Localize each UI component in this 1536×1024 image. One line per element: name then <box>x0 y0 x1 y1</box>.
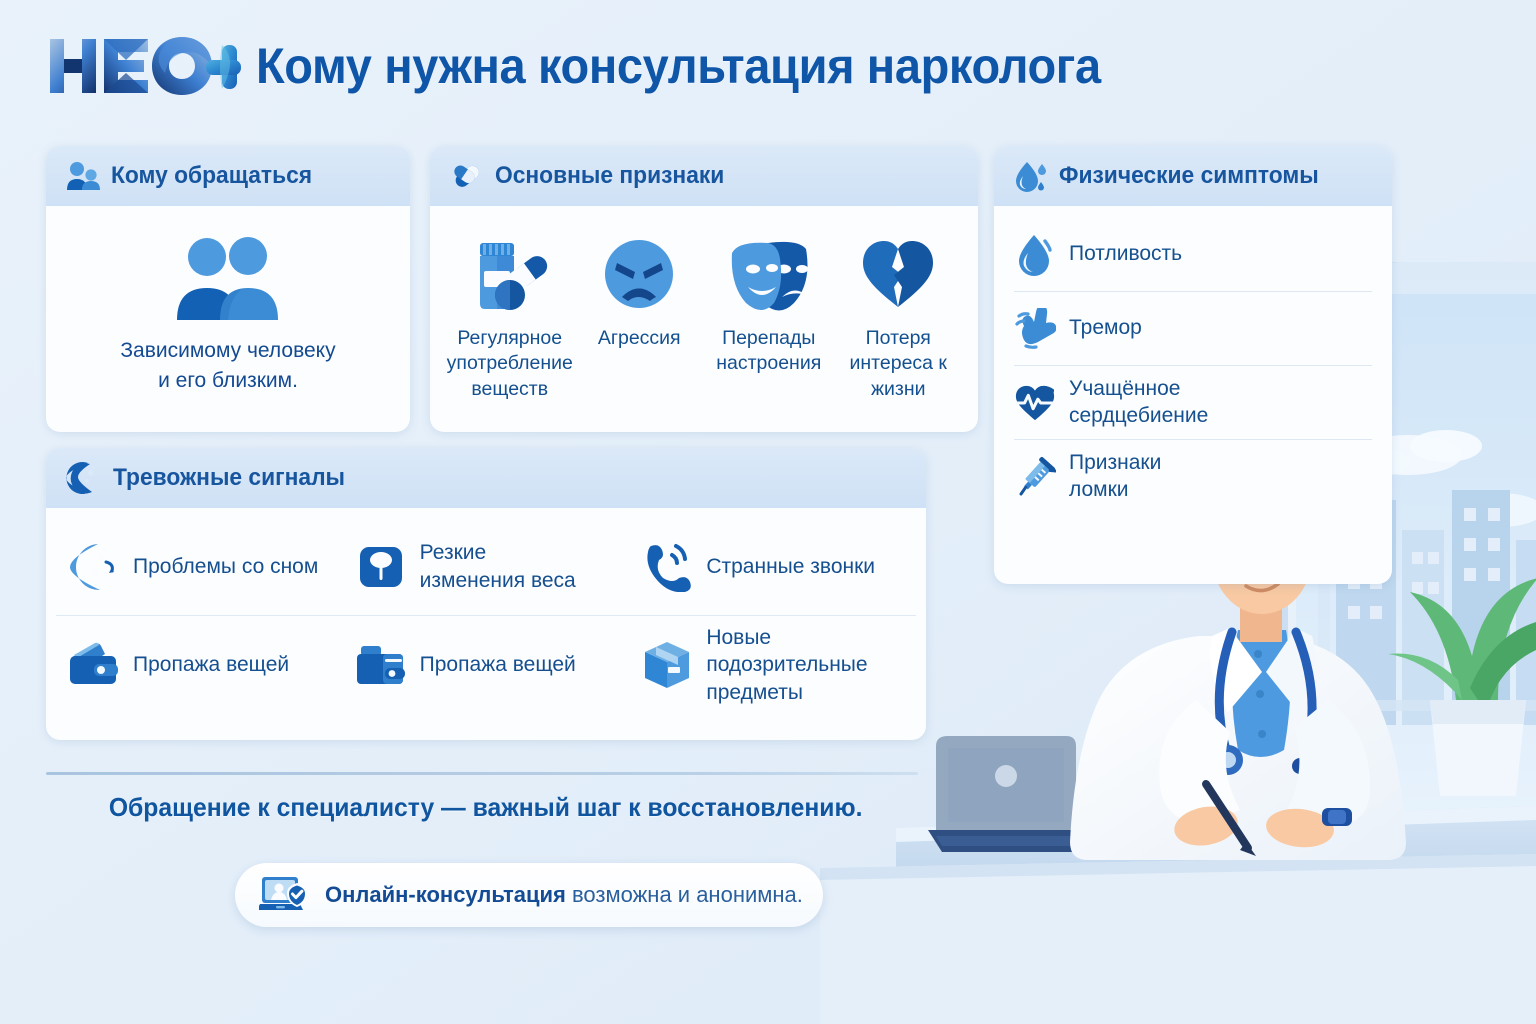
droplet-icon <box>1014 232 1056 278</box>
two-persons-icon <box>66 161 100 191</box>
card-alarm-signals: Тревожные сигналы Проблемы со сном <box>46 448 926 740</box>
package-box-icon <box>641 638 693 692</box>
card-physical-header: Физические симптомы <box>994 146 1392 206</box>
alarm-label: Странные звонки <box>706 553 875 580</box>
card-alarm-title: Тревожные сигналы <box>113 464 345 492</box>
footer-divider <box>46 772 918 775</box>
angry-face-icon <box>600 228 678 320</box>
closed-wallet-icon <box>355 638 407 692</box>
alarm-label-line-1: Резкие <box>420 539 576 566</box>
alarm-grid: Проблемы со сном Резкие изменения веса <box>56 518 916 714</box>
online-consultation-text: Онлайн-консультация возможна и анонимна. <box>325 882 803 908</box>
alarm-label: Проблемы со сном <box>133 553 318 580</box>
theater-masks-icon <box>722 228 816 320</box>
crescent-moon-icon <box>66 461 102 495</box>
physical-row: Потливость <box>1014 218 1372 292</box>
alarm-item: Пропажа вещей <box>343 616 630 714</box>
sign-item: Регулярное употребление веществ <box>446 228 574 402</box>
card-physical-symptoms: Физические симптомы Потливость <box>994 146 1392 584</box>
online-consultation-rest: возможна и анонимна. <box>566 882 803 907</box>
physical-label: Учащённое сердцебиение <box>1069 376 1208 430</box>
card-who-title: Кому обращаться <box>111 162 312 190</box>
card-who-body: Зависимому человеку и его близким. <box>46 206 410 414</box>
alarm-label: Новые подозрительные предметы <box>706 624 867 706</box>
physical-label-line-2: ломки <box>1069 477 1161 504</box>
sign-label: Агрессия <box>598 326 681 351</box>
card-physical-body: Потливость Тремор <box>994 206 1392 522</box>
physical-label-line-1: Учащённое <box>1069 376 1208 403</box>
physical-list: Потливость Тремор <box>1008 214 1378 514</box>
card-physical-title: Физические симптомы <box>1059 162 1319 190</box>
card-who-to-contact: Кому обращаться Зависимому человеку и ег… <box>46 146 410 432</box>
footer-statement: Обращение к специалисту — важный шаг к в… <box>46 786 926 828</box>
physical-label: Признаки ломки <box>1069 450 1161 504</box>
physical-row: Признаки ломки <box>1014 440 1372 514</box>
who-figure <box>62 236 394 320</box>
physical-row: Учащённое сердцебиение <box>1014 366 1372 440</box>
card-alarm-body: Проблемы со сном Резкие изменения веса <box>46 508 926 724</box>
alarm-item: Проблемы со сном <box>56 518 343 616</box>
physical-label-line-2: сердцебиение <box>1069 403 1208 430</box>
sign-item: Перепады настроения <box>705 228 833 402</box>
alarm-label: Резкие изменения веса <box>420 539 576 594</box>
card-signs-title: Основные признаки <box>495 162 724 190</box>
shaking-hand-icon <box>1014 306 1056 352</box>
two-persons-large-icon <box>163 236 293 320</box>
signs-grid: Регулярное употребление веществ Агрессия <box>446 228 962 402</box>
sign-item: Агрессия <box>576 228 704 402</box>
alarm-label-line-1: Новые <box>706 624 867 651</box>
alarm-label-line-3: предметы <box>706 679 867 706</box>
card-alarm-header: Тревожные сигналы <box>46 448 926 508</box>
brand-logo-icon <box>44 33 242 99</box>
laptop-check-icon <box>259 873 311 917</box>
who-line-2: и его близким. <box>62 366 394 396</box>
open-wallet-icon <box>68 638 120 692</box>
card-main-signs: Основные признаки <box>430 146 978 432</box>
alarm-item: Странные звонки <box>629 518 916 616</box>
weight-scale-icon <box>355 540 407 594</box>
syringe-icon <box>1014 454 1056 500</box>
broken-heart-icon <box>857 228 939 320</box>
alarm-label-line-2: подозрительные <box>706 651 867 678</box>
alarm-item: Резкие изменения веса <box>343 518 630 616</box>
sign-label: Регулярное употребление веществ <box>446 326 574 402</box>
page-header: Кому нужна консультация нарколога <box>0 0 1536 132</box>
sign-item: Потеря интереса к жизни <box>835 228 963 402</box>
pills-icon <box>450 161 484 191</box>
phone-call-icon <box>641 540 693 594</box>
alarm-item: Новые подозрительные предметы <box>629 616 916 714</box>
physical-row: Тремор <box>1014 292 1372 366</box>
online-consultation-strong: Онлайн-консультация <box>325 882 566 907</box>
sign-label: Потеря интереса к жизни <box>835 326 963 402</box>
physical-label-line-1: Признаки <box>1069 450 1161 477</box>
physical-label: Тремор <box>1069 315 1142 342</box>
alarm-item: Пропажа вещей <box>56 616 343 714</box>
card-who-header: Кому обращаться <box>46 146 410 206</box>
sign-label: Перепады настроения <box>705 326 833 377</box>
physical-label: Потливость <box>1069 241 1182 268</box>
card-signs-body: Регулярное употребление веществ Агрессия <box>430 206 978 420</box>
moon-sleep-icon <box>68 540 120 594</box>
page-title: Кому нужна консультация нарколога <box>256 37 1101 95</box>
alarm-label-line-2: изменения веса <box>420 567 576 594</box>
alarm-label: Пропажа вещей <box>420 651 576 678</box>
who-description: Зависимому человеку и его близким. <box>62 336 394 396</box>
pill-bottle-icon <box>466 228 554 320</box>
online-consultation-banner: Онлайн-консультация возможна и анонимна. <box>235 863 823 927</box>
heart-pulse-icon <box>1014 380 1056 426</box>
card-signs-header: Основные признаки <box>430 146 978 206</box>
who-line-1: Зависимому человеку <box>62 336 394 366</box>
water-drop-icon <box>1014 160 1048 192</box>
footer-statement-text: Обращение к специалисту — важный шаг к в… <box>109 792 863 823</box>
alarm-label: Пропажа вещей <box>133 651 289 678</box>
